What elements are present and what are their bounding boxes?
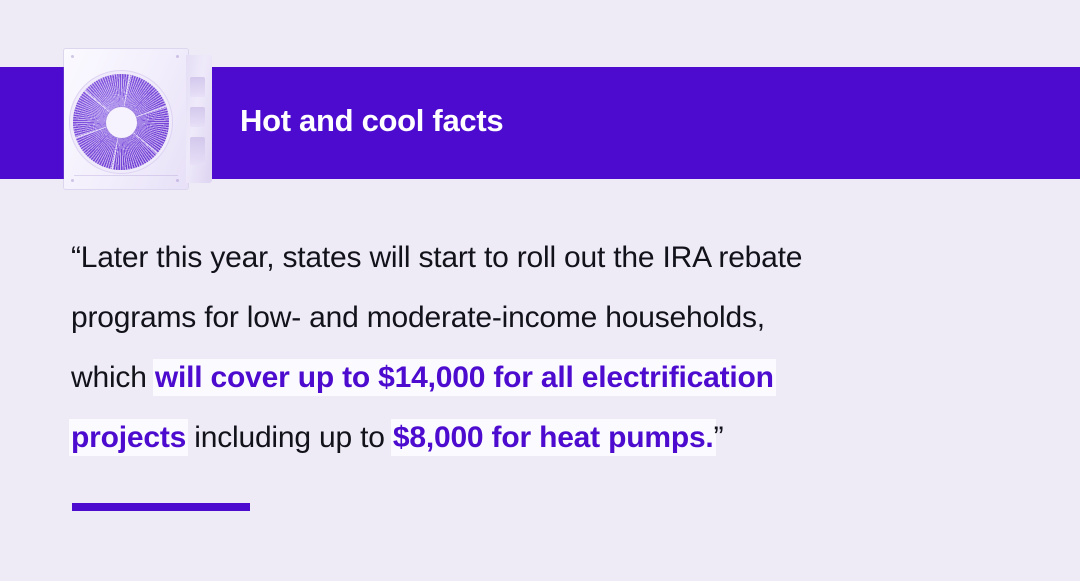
quote-segment: “Later this year, states will start to r…	[71, 241, 802, 274]
quote-segment: which	[71, 361, 155, 394]
quote-text: “Later this year, states will start to r…	[71, 228, 1001, 468]
header-title: Hot and cool facts	[240, 101, 503, 141]
heat-pump-body	[64, 49, 188, 189]
quote-highlight: will cover up to $14,000 for all electri…	[155, 361, 774, 394]
screw-icon	[176, 179, 179, 182]
divider-rule	[72, 503, 250, 511]
fan-hub	[106, 107, 137, 138]
heat-pump-side-panel	[186, 55, 212, 183]
quote-line: programs for low- and moderate-income ho…	[71, 288, 1001, 348]
quote-line: which will cover up to $14,000 for all e…	[71, 348, 1001, 408]
screw-icon	[71, 55, 74, 58]
vent-slot	[190, 77, 205, 97]
screw-icon	[176, 55, 179, 58]
quote-line: projects including up to $8,000 for heat…	[71, 408, 1001, 468]
quote-segment: ”	[714, 421, 724, 454]
quote-highlight: $8,000 for heat pumps.	[393, 421, 714, 454]
quote-segment: including up to	[186, 421, 393, 454]
quote-highlight: projects	[71, 421, 186, 454]
vent-slot	[190, 137, 205, 165]
quote-segment: programs for low- and moderate-income ho…	[71, 301, 765, 334]
screw-icon	[71, 179, 74, 182]
vent-slot	[190, 107, 205, 127]
fact-card: Hot and cool facts “Later this year, sta…	[0, 0, 1080, 581]
panel-seam	[74, 175, 178, 176]
quote-line: “Later this year, states will start to r…	[71, 228, 1001, 288]
heat-pump-icon	[64, 49, 212, 189]
fan-grille-icon	[73, 74, 169, 170]
